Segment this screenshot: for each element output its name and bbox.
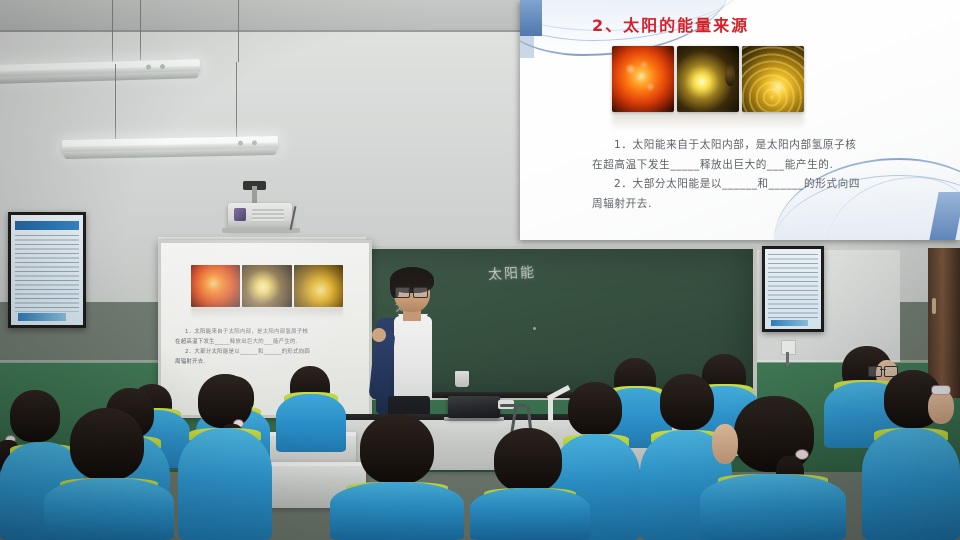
student-head bbox=[734, 396, 814, 472]
student-head bbox=[70, 408, 144, 480]
student-uniform bbox=[178, 428, 272, 540]
student-uniform bbox=[470, 488, 590, 540]
student-head bbox=[568, 382, 622, 436]
tube-cap-d bbox=[252, 140, 257, 145]
projected-line-4: 周辐射开去. bbox=[175, 357, 361, 367]
list-item bbox=[470, 462, 590, 540]
student-face bbox=[928, 390, 954, 424]
headband bbox=[932, 386, 950, 394]
glasses-lens-left bbox=[868, 366, 882, 377]
projected-sun-image-1 bbox=[191, 265, 240, 307]
ceiling-projector bbox=[228, 203, 292, 229]
list-item bbox=[44, 448, 174, 540]
glasses-lens-right bbox=[413, 287, 428, 298]
slide-body-text: 1．太阳能来自于太阳内部，是太阳内部氢原子核 在超高温下发生_____释放出巨大… bbox=[592, 136, 892, 214]
tube-cap-a bbox=[146, 64, 151, 69]
presentation-slide-overlay: 2、太阳的能量来源 1．太阳能来自于太阳内部，是太阳内部氢原子核 在超高温下发生… bbox=[520, 0, 960, 240]
slide-body-line-3: 2．大部分太阳能是以______和______的形式向四 bbox=[592, 175, 892, 195]
light-hanger-wire-5 bbox=[236, 62, 237, 142]
student-uniform bbox=[276, 394, 346, 452]
tube-cap-b bbox=[160, 64, 165, 69]
student-head bbox=[10, 390, 60, 442]
projected-line-1: 1．太阳能来自于太阳内部，是太阳内部氢原子核 bbox=[175, 327, 361, 337]
cup-on-rail bbox=[455, 371, 469, 387]
student-head bbox=[198, 374, 252, 428]
projected-line-3: 2．大部分太阳能是以______和______的形式向四 bbox=[175, 347, 361, 357]
teacher bbox=[370, 268, 454, 428]
list-item bbox=[178, 404, 272, 540]
student-uniform bbox=[700, 474, 846, 540]
poster-text-lines-2 bbox=[768, 254, 817, 318]
chalkboard-writing-main: 太阳能 bbox=[488, 262, 537, 284]
glasses-icon bbox=[395, 287, 428, 296]
classroom-door-frame[interactable] bbox=[928, 248, 960, 398]
light-hanger-wire-3 bbox=[238, 0, 239, 62]
solar-flare-loops-image bbox=[742, 46, 804, 112]
wall-switch-conduit bbox=[786, 352, 789, 366]
student-face bbox=[712, 424, 738, 464]
poster-text-lines bbox=[15, 235, 78, 312]
decorative-bar-top-left bbox=[520, 0, 542, 36]
projected-sun-image-2 bbox=[242, 265, 291, 307]
chalk-mark bbox=[533, 327, 536, 330]
student-uniform bbox=[862, 428, 960, 540]
tube-cap-c bbox=[238, 141, 243, 146]
wall-poster-left bbox=[8, 212, 86, 328]
glasses-icon bbox=[868, 366, 898, 375]
slide-body-line-2: 在超高温下发生_____释放出巨大的___能产生的. bbox=[592, 156, 892, 176]
projected-line-2: 在超高温下发生_____释放出巨大的___能产生的. bbox=[175, 337, 361, 347]
laptop-cable-1 bbox=[500, 404, 526, 407]
projected-image-strip bbox=[191, 265, 343, 307]
apple-logo-icon bbox=[470, 403, 478, 412]
poster-title-band bbox=[15, 221, 78, 231]
macbook-laptop[interactable] bbox=[448, 396, 500, 418]
sun-with-planet-image bbox=[677, 46, 739, 112]
projector-bracket bbox=[222, 228, 300, 233]
student-uniform bbox=[330, 482, 464, 540]
light-hanger-wire-4 bbox=[115, 64, 116, 140]
teacher-hand bbox=[372, 328, 386, 342]
slide-body-line-4: 周辐射开去. bbox=[592, 195, 892, 215]
projector-vent bbox=[252, 209, 284, 222]
decorative-bar-bottom-right bbox=[929, 192, 960, 240]
teacher-shirt bbox=[394, 316, 432, 400]
slide-body-line-1: 1．太阳能来自于太阳内部，是太阳内部氢原子核 bbox=[592, 136, 892, 156]
poster-sheet bbox=[11, 215, 83, 325]
sun-surface-red-image bbox=[612, 46, 674, 112]
light-hanger-wire-2 bbox=[140, 0, 141, 60]
student-head bbox=[494, 428, 562, 492]
screenshot-root: 太阳能 太阳 1．太阳能来自于太阳内部，是太阳内部氢原子核 在超高温下发生___… bbox=[0, 0, 960, 540]
door-knob[interactable] bbox=[932, 298, 936, 314]
poster-footer-band-2 bbox=[771, 320, 808, 326]
light-hanger-wire-1 bbox=[112, 0, 113, 64]
student-uniform bbox=[44, 478, 174, 540]
slide-title: 2、太阳的能量来源 bbox=[592, 12, 749, 36]
slide-image-reflection bbox=[612, 112, 804, 130]
poster-sheet-2 bbox=[765, 249, 821, 329]
poster-footer-band bbox=[18, 313, 66, 321]
slide-image-strip bbox=[612, 46, 804, 112]
decorative-bar-top-left-2 bbox=[520, 36, 534, 58]
projector-lens-icon bbox=[234, 208, 246, 221]
projected-sun-image-3 bbox=[294, 265, 343, 307]
list-item bbox=[330, 452, 464, 540]
student-head bbox=[660, 374, 714, 430]
glasses-lens-left bbox=[395, 287, 410, 298]
student-head bbox=[360, 414, 434, 484]
projected-image-reflection bbox=[191, 307, 343, 319]
fluorescent-tube-light-2 bbox=[62, 136, 278, 153]
list-item bbox=[700, 440, 846, 540]
wall-poster-right bbox=[762, 246, 824, 332]
projected-slide-text: 1．太阳能来自于太阳内部，是太阳内部氢原子核 在超高温下发生_____释放出巨大… bbox=[175, 327, 361, 367]
list-item bbox=[862, 402, 960, 540]
list-item bbox=[276, 382, 346, 452]
